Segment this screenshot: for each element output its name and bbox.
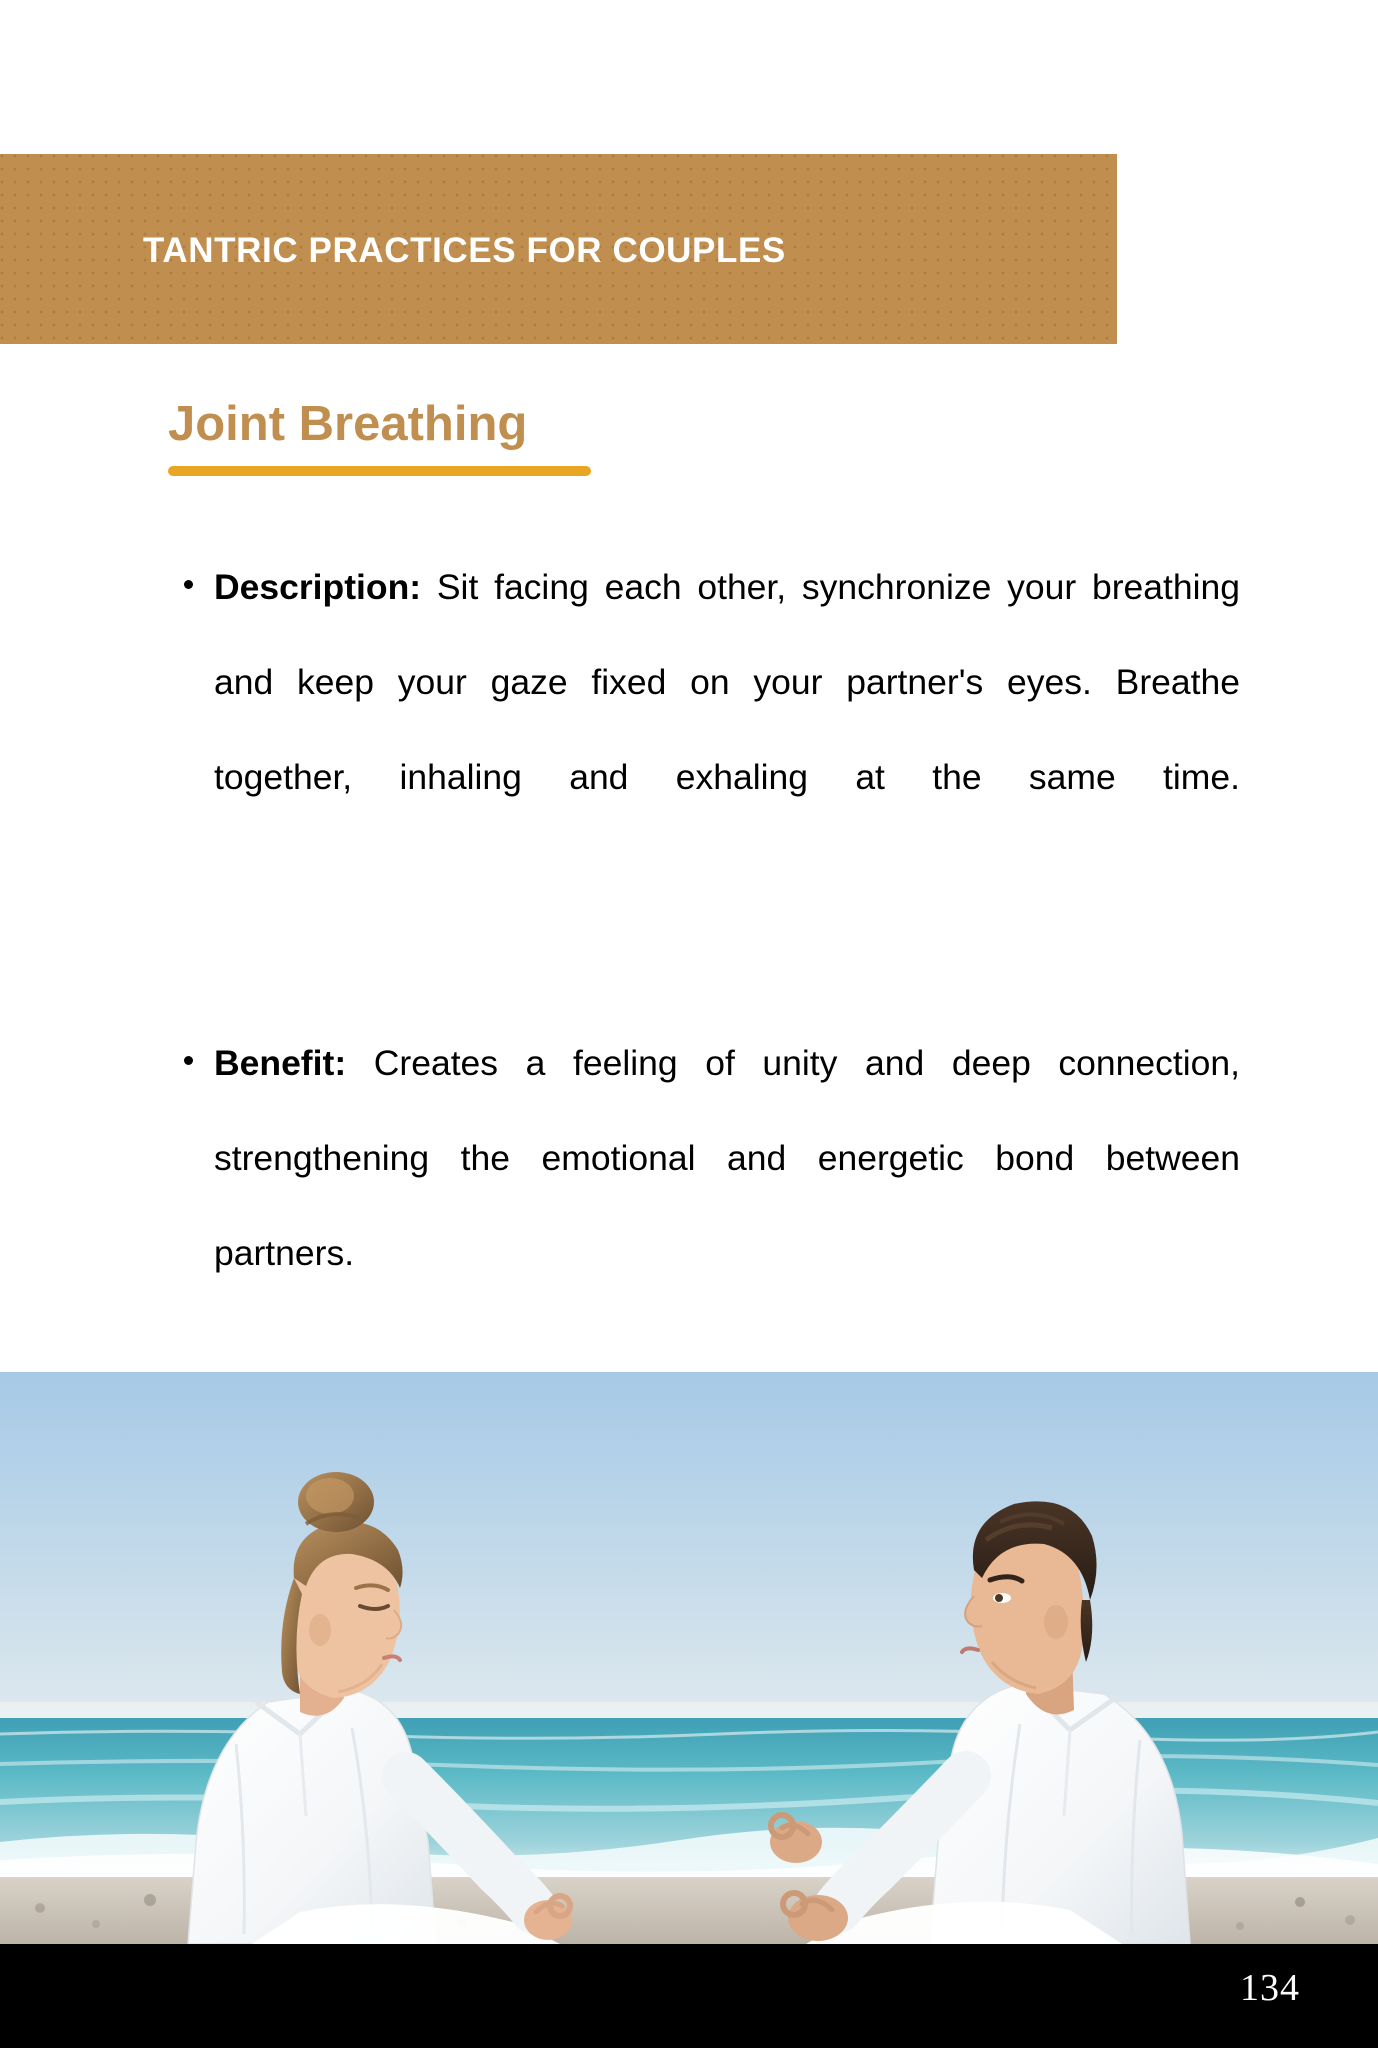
- list-item: Description: Sit facing each other, sync…: [176, 540, 1240, 920]
- beach-meditation-photo: [0, 1372, 1378, 1944]
- list-item-body: Benefit: Creates a feeling of unity and …: [214, 1043, 1240, 1368]
- list-item-lead: Description:: [214, 567, 421, 607]
- sky: [0, 1372, 1378, 1720]
- section-heading-underline: [168, 466, 591, 476]
- page-title: TANTRIC PRACTICES FOR COUPLES: [143, 231, 786, 271]
- list-item-lead: Benefit:: [214, 1043, 346, 1083]
- list-item-text: Creates a feeling of unity and deep conn…: [214, 1043, 1240, 1273]
- list-item-body: Description: Sit facing each other, sync…: [214, 567, 1240, 892]
- bullet-dot-icon: [184, 580, 193, 589]
- section-heading: Joint Breathing: [168, 400, 1068, 449]
- section-heading-group: Joint Breathing: [168, 400, 1068, 476]
- list-item: Benefit: Creates a feeling of unity and …: [176, 1016, 1240, 1396]
- footer-bar: 134: [0, 1944, 1378, 2048]
- page-number: 134: [1240, 1966, 1300, 2010]
- header-band: TANTRIC PRACTICES FOR COUPLES: [0, 154, 1117, 344]
- bullet-dot-icon: [184, 1056, 193, 1065]
- body-content: Description: Sit facing each other, sync…: [176, 540, 1240, 1396]
- slide-page: TANTRIC PRACTICES FOR COUPLES Joint Brea…: [0, 0, 1378, 2048]
- photo-illustration: [0, 1372, 1378, 1944]
